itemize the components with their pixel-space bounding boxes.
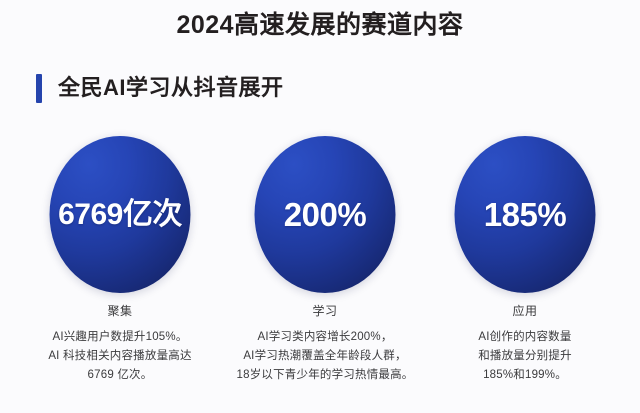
stat-description-line: AI学习热潮覆盖全年龄段人群，	[229, 347, 421, 366]
section-heading: 全民AI学习从抖音展开	[36, 72, 284, 104]
stat-card-yingyong: 185% 应用 AI创作的内容数量 和播放量分别提升 185%和199%。	[425, 132, 625, 413]
stat-description-line: 185%和199%。	[429, 366, 621, 385]
accent-bar-icon	[36, 74, 42, 103]
stat-description-line: AI创作的内容数量	[429, 328, 621, 347]
stat-caption: 聚集 AI兴趣用户数提升105%。 AI 科技相关内容播放量高达 6769 亿次…	[20, 304, 220, 384]
stat-description: AI兴趣用户数提升105%。 AI 科技相关内容播放量高达 6769 亿次。	[20, 328, 220, 384]
stat-value: 185%	[484, 198, 566, 231]
page-title: 2024高速发展的赛道内容	[0, 10, 640, 40]
stat-card-juji: 6769亿次 聚集 AI兴趣用户数提升105%。 AI 科技相关内容播放量高达 …	[20, 132, 220, 413]
stat-caption: 应用 AI创作的内容数量 和播放量分别提升 185%和199%。	[425, 304, 625, 384]
stat-description-line: AI 科技相关内容播放量高达	[24, 347, 216, 366]
stat-description-line: 6769 亿次。	[24, 366, 216, 385]
stat-value: 6769亿次	[58, 200, 182, 230]
stat-caption: 学习 AI学习类内容增长200%， AI学习热潮覆盖全年龄段人群， 18岁以下青…	[225, 304, 425, 384]
stat-description-line: 和播放量分别提升	[429, 347, 621, 366]
stat-description-line: AI兴趣用户数提升105%。	[24, 328, 216, 347]
stat-label: 聚集	[20, 304, 220, 318]
stat-value: 200%	[284, 198, 366, 231]
stat-description-line: AI学习类内容增长200%，	[229, 328, 421, 347]
infographic-slide: 2024高速发展的赛道内容 全民AI学习从抖音展开 6769亿次 聚集 AI兴趣…	[0, 0, 640, 413]
stat-description: AI学习类内容增长200%， AI学习热潮覆盖全年龄段人群， 18岁以下青少年的…	[225, 328, 425, 384]
stat-label: 应用	[425, 304, 625, 318]
stat-card-xuexi: 200% 学习 AI学习类内容增长200%， AI学习热潮覆盖全年龄段人群， 1…	[225, 132, 425, 413]
stat-label: 学习	[225, 304, 425, 318]
section-heading-label: 全民AI学习从抖音展开	[58, 77, 284, 99]
stat-bubble: 200%	[255, 136, 396, 293]
stat-bubble: 6769亿次	[50, 136, 191, 293]
stat-description-line: 18岁以下青少年的学习热情最高。	[229, 366, 421, 385]
stat-bubble: 185%	[455, 136, 596, 293]
stats-row: 6769亿次 聚集 AI兴趣用户数提升105%。 AI 科技相关内容播放量高达 …	[0, 132, 640, 413]
stat-description: AI创作的内容数量 和播放量分别提升 185%和199%。	[425, 328, 625, 384]
